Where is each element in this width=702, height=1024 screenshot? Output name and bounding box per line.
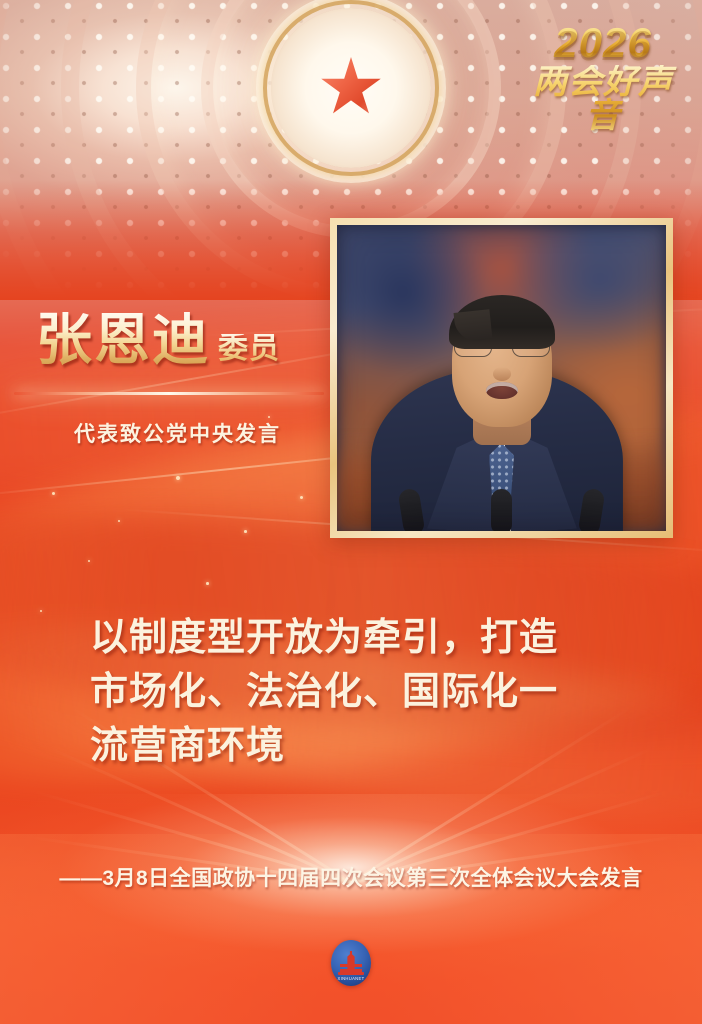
emblem-inner: XINHUANET	[336, 946, 366, 980]
speaker-name-row: 张恩迪 委员	[36, 312, 326, 368]
portrait-frame	[330, 218, 673, 538]
speaker-name: 张恩迪	[36, 312, 210, 368]
sparkle	[300, 496, 303, 499]
speaker-photo	[337, 225, 666, 531]
news-agency-logo-icon: XINHUANET	[331, 940, 371, 986]
sparkle	[206, 582, 209, 585]
emblem-bar	[340, 964, 362, 967]
headline-line-2: 市场化、法治化、国际化一	[90, 666, 635, 720]
emblem-label: XINHUANET	[336, 976, 366, 981]
emblem-tower	[345, 951, 358, 971]
sparkle	[40, 610, 42, 612]
sparkle	[244, 530, 247, 533]
photo-vignette	[337, 225, 666, 531]
sparkle	[88, 560, 90, 562]
sparkle	[176, 476, 180, 480]
event-caption: ——3月8日全国政协十四届四次会议第三次全体会议大会发言	[0, 862, 702, 892]
gold-divider	[14, 392, 324, 395]
speaker-name-block: 张恩迪 委员	[36, 312, 326, 368]
sparkle	[118, 520, 120, 522]
headline: 以制度型开放为牵引，打造 市场化、法治化、国际化一 流营商环境	[90, 612, 635, 774]
sparkle	[52, 492, 55, 495]
speaker-subtitle: 代表致公党中央发言	[74, 418, 281, 448]
logo-year: 2026	[522, 22, 684, 64]
emblem-base	[338, 972, 364, 975]
bottom-light-burst	[0, 794, 702, 1024]
headline-line-3: 流营商环境	[90, 720, 635, 774]
campaign-logo: 2026 两会好声音	[522, 22, 684, 133]
headline-line-1: 以制度型开放为牵引，打造	[90, 612, 635, 666]
poster-canvas: 2026 两会好声音	[0, 0, 702, 1024]
speaker-title: 委员	[218, 334, 280, 368]
logo-slogan: 两会好声音	[522, 65, 684, 133]
